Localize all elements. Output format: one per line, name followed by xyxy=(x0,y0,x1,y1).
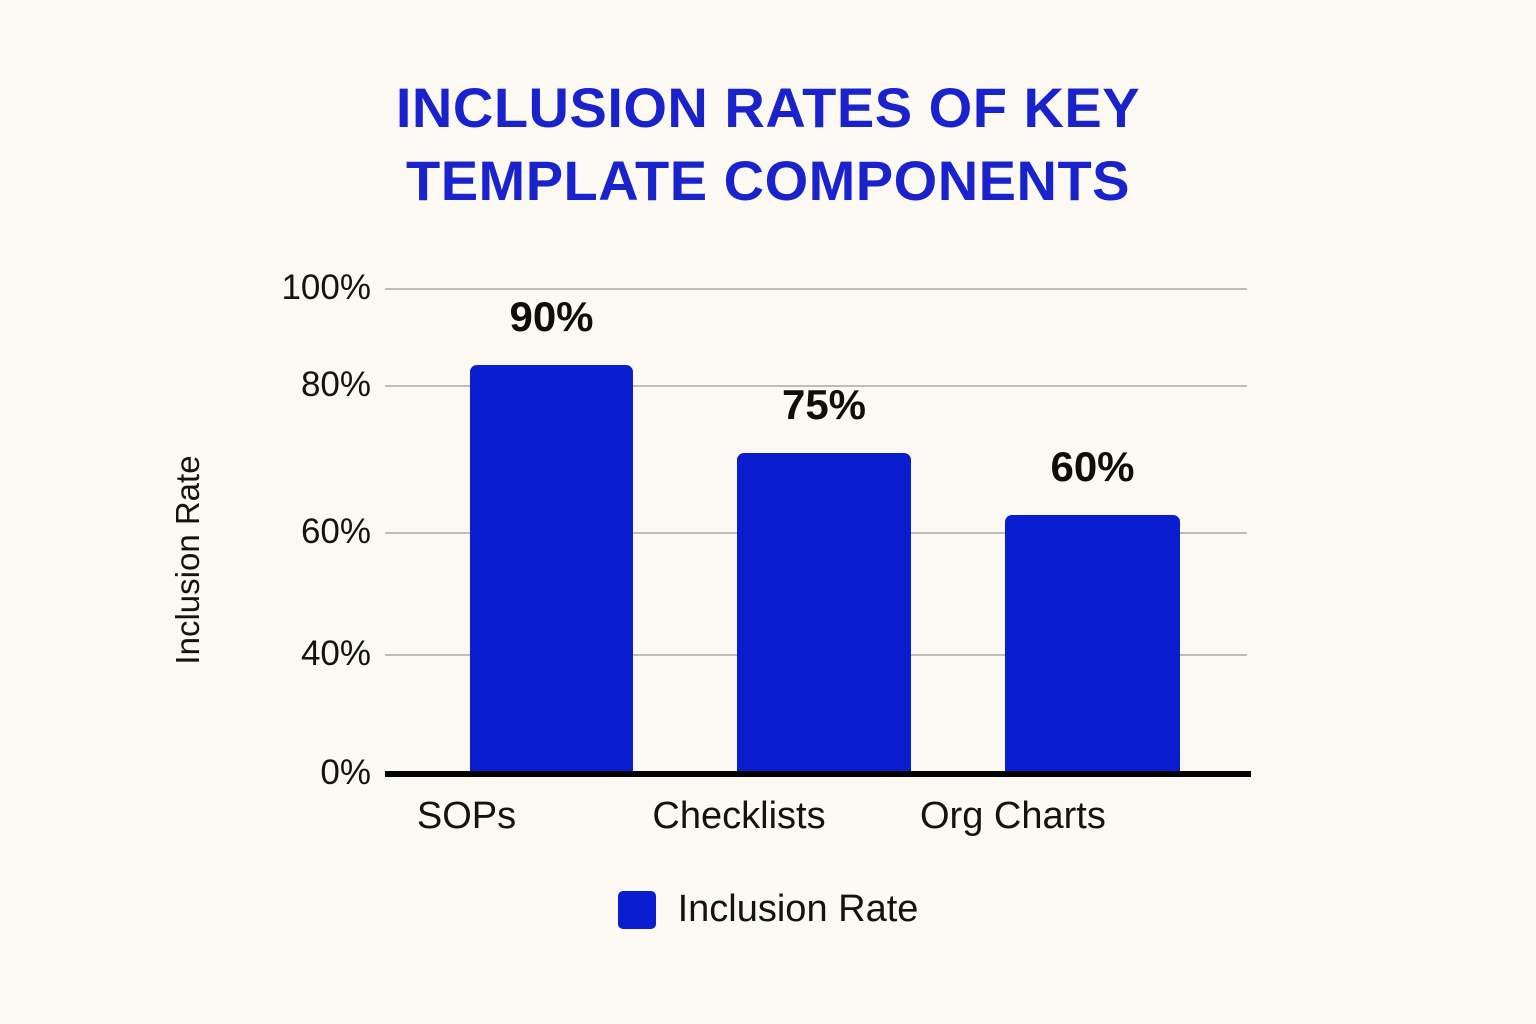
bar-checklists[interactable] xyxy=(737,453,911,775)
x-tick-label-sops: SOPs xyxy=(389,795,544,838)
legend-label-inclusion-rate[interactable]: Inclusion Rate xyxy=(678,888,919,931)
y-tick-label-100: 100% xyxy=(231,268,371,308)
bar-value-label-org-charts: 60% xyxy=(1050,443,1134,491)
y-tick-label-80: 80% xyxy=(231,365,371,405)
bar-org-charts[interactable] xyxy=(1005,515,1180,775)
bar-sops[interactable] xyxy=(470,365,633,775)
x-tick-label-checklists: Checklists xyxy=(652,795,826,838)
y-tick-label-60: 60% xyxy=(231,512,371,552)
bar-chart: INCLUSION RATES OF KEY TEMPLATE COMPONEN… xyxy=(0,0,1536,1024)
y-axis-title: Inclusion Rate xyxy=(169,455,207,664)
x-axis-line xyxy=(385,771,1251,777)
y-tick-label-0: 0% xyxy=(231,753,371,793)
chart-title-line-2: TEMPLATE COMPONENTS xyxy=(0,145,1536,218)
bar-value-label-checklists: 75% xyxy=(782,381,866,429)
x-tick-label-org-charts: Org Charts xyxy=(920,795,1095,838)
bar-value-label-sops: 90% xyxy=(509,293,593,341)
chart-title: INCLUSION RATES OF KEY TEMPLATE COMPONEN… xyxy=(0,72,1536,218)
bar-slot-checklists: 75% xyxy=(737,288,911,775)
bar-slot-sops: 90% xyxy=(470,288,633,775)
chart-title-line-1: INCLUSION RATES OF KEY xyxy=(0,72,1536,145)
y-tick-label-40: 40% xyxy=(231,634,371,674)
bar-slot-org-charts: 60% xyxy=(1005,288,1180,775)
chart-legend: Inclusion Rate xyxy=(0,888,1536,931)
legend-swatch-inclusion-rate[interactable] xyxy=(618,891,656,929)
plot-area: 90% 75% 60% xyxy=(385,288,1247,775)
